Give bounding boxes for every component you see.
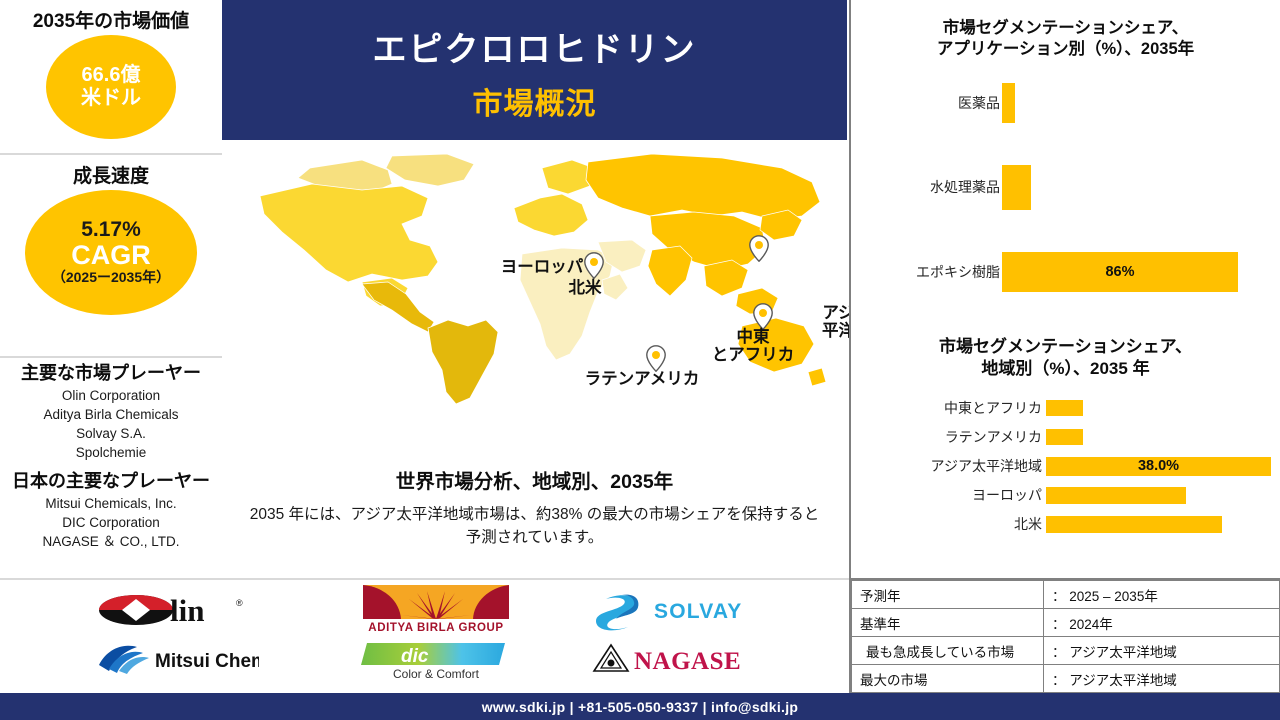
map-caption-title: 世界市場分析、地域別、2035年: [222, 465, 847, 494]
market-value-line2: 米ドル: [81, 87, 141, 110]
map-label-europe: ヨーロッパ: [462, 258, 622, 276]
table-value-fastest-growing-market: ： アジア太平洋地域: [1044, 637, 1280, 665]
table-row: 最も急成長している市場 ： アジア太平洋地域: [852, 637, 1280, 665]
cagr-percent: 5.17%: [81, 219, 141, 241]
market-value-bubble: 66.6億 米ドル: [46, 35, 176, 139]
bar-latin-america: [1046, 429, 1083, 445]
table-key-forecast-year: 予測年: [852, 581, 1044, 609]
table-value-largest-market: ： アジア太平洋地域: [1044, 665, 1280, 693]
map-label-north-america: 北米: [540, 279, 630, 297]
svg-text:Color & Comfort: Color & Comfort: [392, 667, 479, 681]
bar-pharmaceuticals: [1002, 83, 1015, 123]
map-caption: 世界市場分析、地域別、2035年 2035 年には、アジア太平洋地域市場は、約3…: [222, 465, 847, 550]
application-bar-row: エポキシ樹脂 86%: [851, 252, 1280, 292]
bar-label-latin-america: ラテンアメリカ: [851, 427, 1042, 447]
regional-bar-row: アジア太平洋地域 38.0%: [851, 456, 1280, 476]
world-map-svg: [242, 154, 827, 404]
map-caption-text: 2035 年には、アジア太平洋地域市場は、約38% の最大の市場シェアを保持する…: [248, 503, 821, 550]
list-item: NAGASE ＆ CO., LTD.: [0, 532, 222, 551]
bar-value-epoxy-resin: 86%: [1105, 264, 1134, 280]
olin-logo-icon: lin ®: [98, 590, 258, 630]
list-item: Olin Corporation: [0, 386, 222, 405]
cagr-bubble: 5.17% CAGR （2025ー2035年）: [25, 190, 197, 315]
application-chart: 市場セグメンテーションシェア、 アプリケーション別（%）、2035年 医薬品 水…: [851, 18, 1280, 292]
growth-rate-label: 成長速度: [0, 161, 222, 188]
regional-bar-row: ラテンアメリカ: [851, 427, 1280, 447]
map-label-latin-america: ラテンアメリカ: [562, 370, 722, 388]
japan-players-heading: 日本の主要なプレーヤー: [0, 467, 222, 493]
market-value-line1: 66.6億: [81, 64, 141, 87]
logo-solvay: SOLVAY: [590, 588, 760, 633]
table-key-base-year: 基準年: [852, 609, 1044, 637]
bar-epoxy-resin: 86%: [1002, 252, 1238, 292]
aditya-birla-logo-icon: ADITYA BIRLA GROUP: [361, 585, 511, 635]
bar-asia-pacific: 38.0%: [1046, 457, 1271, 476]
world-map: 北米 ヨーロッパ アジア太 平洋地域 中東 とアフリカ ラテンアメリカ: [222, 140, 847, 465]
table-key-largest-market: 最大の市場: [852, 665, 1044, 693]
market-value-section: 2035年の市場価値 66.6億 米ドル: [0, 0, 222, 155]
table-value-forecast-year: ： 2025 – 2035年: [1044, 581, 1280, 609]
table-row: 基準年 ： 2024年: [852, 609, 1280, 637]
cagr-period: （2025ー2035年）: [52, 269, 170, 286]
svg-text:ADITYA BIRLA GROUP: ADITYA BIRLA GROUP: [368, 622, 503, 634]
application-chart-title: 市場セグメンテーションシェア、 アプリケーション別（%）、2035年: [851, 18, 1280, 61]
market-value-label: 2035年の市場価値: [0, 6, 222, 33]
logo-dic: dic Color & Comfort: [358, 636, 513, 682]
bar-middle-east-africa: [1046, 400, 1083, 416]
hero-banner: エピクロロヒドリン 市場概況: [222, 0, 847, 140]
logo-nagase: NAGASE: [590, 638, 760, 680]
svg-text:NAGASE: NAGASE: [634, 648, 741, 675]
bar-label-asia-pacific: アジア太平洋地域: [851, 456, 1042, 476]
application-chart-title-line1: 市場セグメンテーションシェア、: [851, 18, 1280, 39]
bar-label-epoxy-resin: エポキシ樹脂: [851, 262, 1000, 282]
application-bar-row: 水処理薬品: [851, 165, 1280, 210]
regional-bar-row: 中東とアフリカ: [851, 398, 1280, 418]
map-label-mea-line1: 中東: [693, 328, 813, 346]
map-label-mea-line2: とアフリカ: [693, 346, 813, 364]
list-item: Mitsui Chemicals, Inc.: [0, 494, 222, 513]
bar-label-north-america: 北米: [851, 514, 1042, 534]
solvay-logo-icon: SOLVAY: [592, 589, 758, 633]
center-panel: エピクロロヒドリン 市場概況: [222, 0, 847, 578]
logo-aditya-birla: ADITYA BIRLA GROUP: [358, 585, 513, 635]
bar-label-middle-east-africa: 中東とアフリカ: [851, 398, 1042, 418]
svg-text:SOLVAY: SOLVAY: [654, 600, 743, 623]
svg-text:dic: dic: [401, 646, 429, 667]
global-players-heading: 主要な市場プレーヤー: [0, 359, 222, 385]
regional-bar-row: ヨーロッパ: [851, 485, 1280, 505]
list-item: DIC Corporation: [0, 513, 222, 532]
list-item: Spolchemie: [0, 443, 222, 462]
logo-mitsui-chemicals: Mitsui Chemicals: [95, 638, 260, 680]
key-players-section: 主要な市場プレーヤー Olin Corporation Aditya Birla…: [0, 358, 222, 578]
table-row: 予測年 ： 2025 – 2035年: [852, 581, 1280, 609]
nagase-logo-icon: NAGASE: [592, 641, 758, 677]
table-value-base-year: ： 2024年: [1044, 609, 1280, 637]
application-bar-row: 医薬品: [851, 83, 1280, 123]
page-title: エピクロロヒドリン: [222, 0, 847, 71]
cagr-text: CAGR: [71, 241, 151, 269]
logo-olin: lin ®: [95, 588, 260, 632]
svg-text:lin: lin: [170, 593, 204, 628]
table-row: 最大の市場 ： アジア太平洋地域: [852, 665, 1280, 693]
mitsui-logo-icon: Mitsui Chemicals: [97, 641, 259, 677]
list-item: Aditya Birla Chemicals: [0, 405, 222, 424]
regional-bar-row: 北米: [851, 514, 1280, 534]
bar-water-treatment: [1002, 165, 1031, 210]
map-pin-europe: [749, 235, 769, 262]
infographic-page: 2035年の市場価値 66.6億 米ドル 成長速度 5.17% CAGR （20…: [0, 0, 1280, 720]
map-pin-middle-east-africa: [753, 303, 773, 330]
footer-contact-text: www.sdki.jp | +81-505-050-9337 | info@sd…: [482, 699, 799, 715]
summary-table: 予測年 ： 2025 – 2035年 基準年 ： 2024年 最も急成長している…: [849, 578, 1280, 693]
bar-europe: [1046, 487, 1186, 504]
right-panel: 市場セグメンテーションシェア、 アプリケーション別（%）、2035年 医薬品 水…: [849, 0, 1280, 578]
list-item: Solvay S.A.: [0, 424, 222, 443]
left-sidebar: 2035年の市場価値 66.6億 米ドル 成長速度 5.17% CAGR （20…: [0, 0, 222, 578]
table-key-fastest-growing-market: 最も急成長している市場: [852, 637, 1044, 665]
map-pin-latin-america: [646, 345, 666, 372]
svg-text:®: ®: [236, 598, 243, 608]
application-chart-title-line2: アプリケーション別（%）、2035年: [851, 39, 1280, 60]
bar-label-europe: ヨーロッパ: [851, 485, 1042, 505]
company-logos: lin ® ADITYA BIRLA GR: [0, 578, 849, 695]
regional-chart: 市場セグメンテーションシェア、 地域別（%）、2035 年 中東とアフリカ ラテ…: [851, 336, 1280, 534]
map-label-middle-east-africa: 中東 とアフリカ: [693, 328, 813, 365]
dic-logo-icon: dic Color & Comfort: [361, 637, 511, 681]
bar-north-america: [1046, 516, 1222, 533]
footer-bar: www.sdki.jp | +81-505-050-9337 | info@sd…: [0, 693, 1280, 720]
page-subtitle: 市場概況: [222, 71, 847, 123]
regional-chart-title-line2: 地域別（%）、2035 年: [851, 358, 1280, 380]
svg-text:Mitsui Chemicals: Mitsui Chemicals: [155, 651, 259, 672]
growth-rate-section: 成長速度 5.17% CAGR （2025ー2035年）: [0, 155, 222, 358]
bar-label-pharmaceuticals: 医薬品: [851, 93, 1000, 113]
regional-chart-title-line1: 市場セグメンテーションシェア、: [851, 336, 1280, 358]
bar-label-water-treatment: 水処理薬品: [851, 177, 1000, 197]
bar-value-asia-pacific: 38.0%: [1138, 458, 1179, 474]
regional-chart-title: 市場セグメンテーションシェア、 地域別（%）、2035 年: [851, 336, 1280, 380]
